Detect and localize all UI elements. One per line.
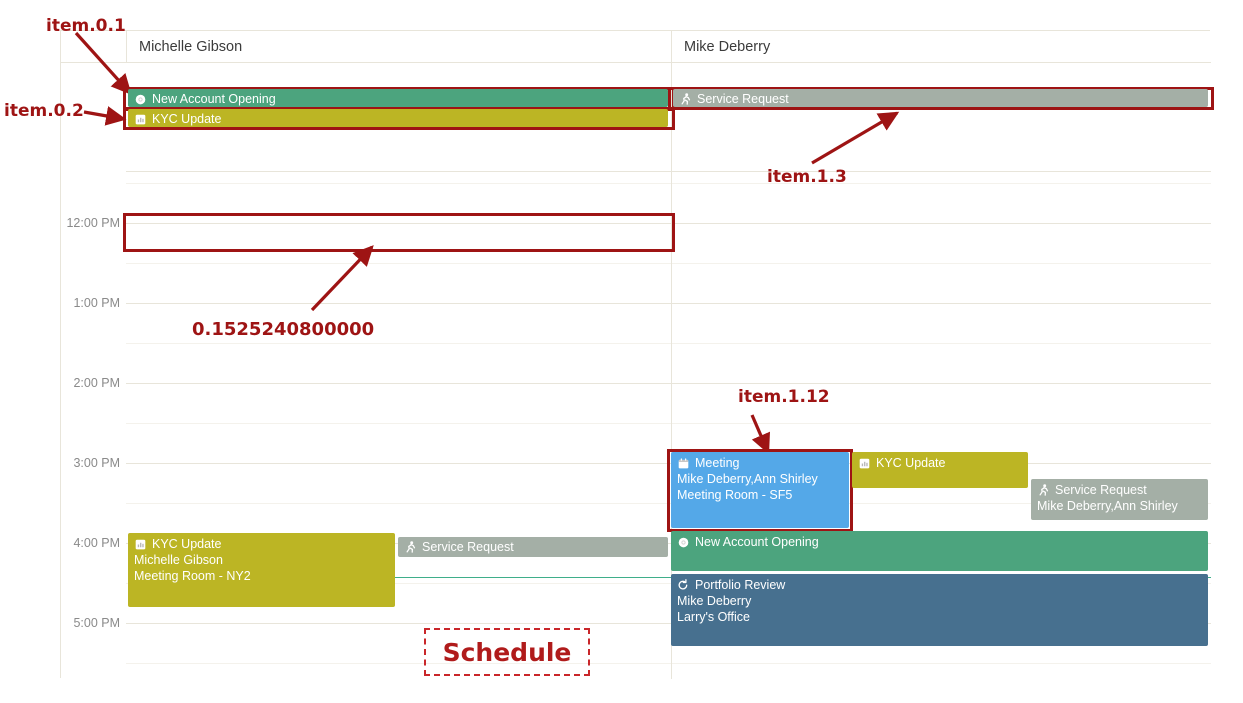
event-location: Larry's Office [677,609,1202,625]
event-title: Service Request [1055,482,1147,498]
column-header-michelle-gibson[interactable]: Michelle Gibson [126,31,671,63]
event-title: New Account Opening [695,534,819,550]
schedule-caption: Schedule [424,628,590,676]
event-ev-kyc-update-pm[interactable]: KYC Update [852,452,1028,488]
chart-document-icon [134,538,146,550]
time-label-3: 3:00 PM [73,456,120,470]
event-title: KYC Update [152,536,221,552]
event-title-row: Service Request [679,91,1202,107]
gear-icon [134,93,146,105]
event-ev-service-request-pm-left[interactable]: Service Request [398,537,668,557]
scheduler-header: Michelle Gibson Mike Deberry [61,31,1211,63]
schedule-caption-label: Schedule [443,638,572,667]
event-title: KYC Update [876,455,945,471]
hour-gridline [126,463,1211,464]
allday-separator [126,171,1211,172]
event-attendees: Mike Deberry,Ann Shirley [677,471,843,487]
chart-document-icon [134,113,146,125]
time-label-1: 1:00 PM [73,296,120,310]
runner-icon [404,541,416,553]
event-title: New Account Opening [152,91,276,107]
half-hour-gridline [126,343,1211,344]
annotation-label-item-0-2: item.0.2 [4,101,84,121]
event-location: Meeting Room - NY2 [134,568,389,584]
event-attendees: Mike Deberry [677,593,1202,609]
event-title-row: Service Request [1037,482,1202,498]
event-title-row: Service Request [404,539,662,555]
half-hour-gridline [126,183,1211,184]
hour-gridline [126,303,1211,304]
column-header-label: Mike Deberry [684,39,770,55]
event-location: Meeting Room - SF5 [677,487,843,503]
time-label-0: 12:00 PM [66,216,120,230]
event-ev-portfolio-review[interactable]: Portfolio ReviewMike DeberryLarry's Offi… [671,574,1208,646]
event-ev-new-account-opening-allday[interactable]: New Account Opening [128,89,668,107]
event-title: Portfolio Review [695,577,785,593]
event-ev-service-request-allday[interactable]: Service Request [673,89,1208,107]
time-gutter: 12:00 PM1:00 PM2:00 PM3:00 PM4:00 PM5:00… [61,63,126,679]
event-title-row: Meeting [677,455,843,471]
runner-icon [1037,484,1049,496]
time-label-5: 5:00 PM [73,616,120,630]
half-hour-gridline [126,423,1211,424]
event-title: Service Request [697,91,789,107]
half-hour-gridline [126,663,1211,664]
hour-gridline [126,383,1211,384]
event-title-row: New Account Opening [134,91,662,107]
hour-gridline [126,223,1211,224]
event-attendees: Mike Deberry,Ann Shirley [1037,498,1202,514]
event-ev-new-account-opening-pm[interactable]: New Account Opening [671,531,1208,571]
recurrence-icon [677,579,689,591]
chart-document-icon [858,457,870,469]
time-label-2: 2:00 PM [73,376,120,390]
time-label-4: 4:00 PM [73,536,120,550]
annotation-label-item-0-1: item.0.1 [46,16,126,36]
event-ev-kyc-update-pm-left[interactable]: KYC UpdateMichelle GibsonMeeting Room - … [128,533,395,607]
event-title-row: Portfolio Review [677,577,1202,593]
event-title-row: KYC Update [858,455,1022,471]
event-ev-meeting[interactable]: MeetingMike Deberry,Ann ShirleyMeeting R… [671,452,849,528]
event-title: KYC Update [152,111,221,127]
event-ev-kyc-update-allday[interactable]: KYC Update [128,109,668,127]
schedule-screenshot: Michelle Gibson Mike Deberry 12:00 PM1:0… [0,0,1243,703]
column-header-label: Michelle Gibson [139,39,242,55]
annotation-label-timestamp: 0.1525240800000 [192,319,374,340]
annotation-label-item-1-3: item.1.3 [767,167,847,187]
event-title-row: KYC Update [134,536,389,552]
event-title: Meeting [695,455,739,471]
gear-icon [677,536,689,548]
runner-icon [679,93,691,105]
annotation-label-item-1-12: item.1.12 [738,387,830,407]
event-title-row: KYC Update [134,111,662,127]
event-title: Service Request [422,539,514,555]
event-ev-service-request-pm[interactable]: Service RequestMike Deberry,Ann Shirley [1031,479,1208,520]
half-hour-gridline [126,263,1211,264]
calendar-icon [677,457,689,469]
column-header-mike-deberry[interactable]: Mike Deberry [671,31,1211,63]
event-attendees: Michelle Gibson [134,552,389,568]
event-title-row: New Account Opening [677,534,1202,550]
